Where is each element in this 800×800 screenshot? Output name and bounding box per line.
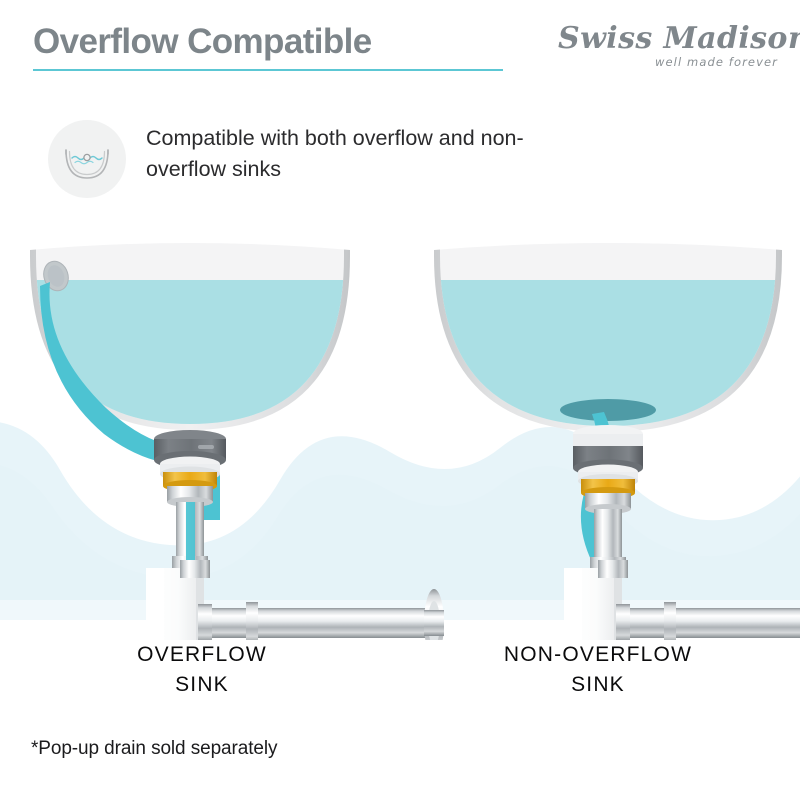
header: Overflow Compatible Swiss Madison® well … [0, 0, 800, 96]
caption-overflow-sink: OVERFLOW SINK [22, 640, 382, 700]
brand-tagline: well made forever [558, 55, 778, 69]
caption-non-overflow-line2: SINK [418, 670, 778, 700]
waste-pipe-right [616, 608, 800, 638]
waste-pipe [198, 608, 438, 638]
brand-name: Swiss Madison® [558, 24, 778, 54]
overflow-sink-icon [48, 120, 126, 198]
infographic-page: Overflow Compatible Swiss Madison® well … [0, 0, 800, 800]
page-title: Overflow Compatible [33, 24, 372, 59]
sink-overflow-group [30, 233, 444, 640]
footnote: *Pop-up drain sold separately [31, 738, 277, 760]
sink-non-overflow-group [434, 233, 800, 640]
brand-name-text: Swiss Madison [558, 21, 800, 56]
feature-row: Compatible with both overflow and non-ov… [48, 118, 608, 210]
drain-opening [560, 399, 656, 421]
caption-overflow-line1: OVERFLOW [22, 640, 382, 670]
feature-text: Compatible with both overflow and non-ov… [146, 123, 576, 184]
sink-illustration [0, 220, 800, 640]
caption-non-overflow-line1: NON-OVERFLOW [418, 640, 778, 670]
caption-non-overflow-sink: NON-OVERFLOW SINK [418, 640, 778, 700]
title-underline [33, 69, 503, 71]
caption-overflow-line2: SINK [22, 670, 382, 700]
brand-logo: Swiss Madison® well made forever [558, 24, 778, 76]
